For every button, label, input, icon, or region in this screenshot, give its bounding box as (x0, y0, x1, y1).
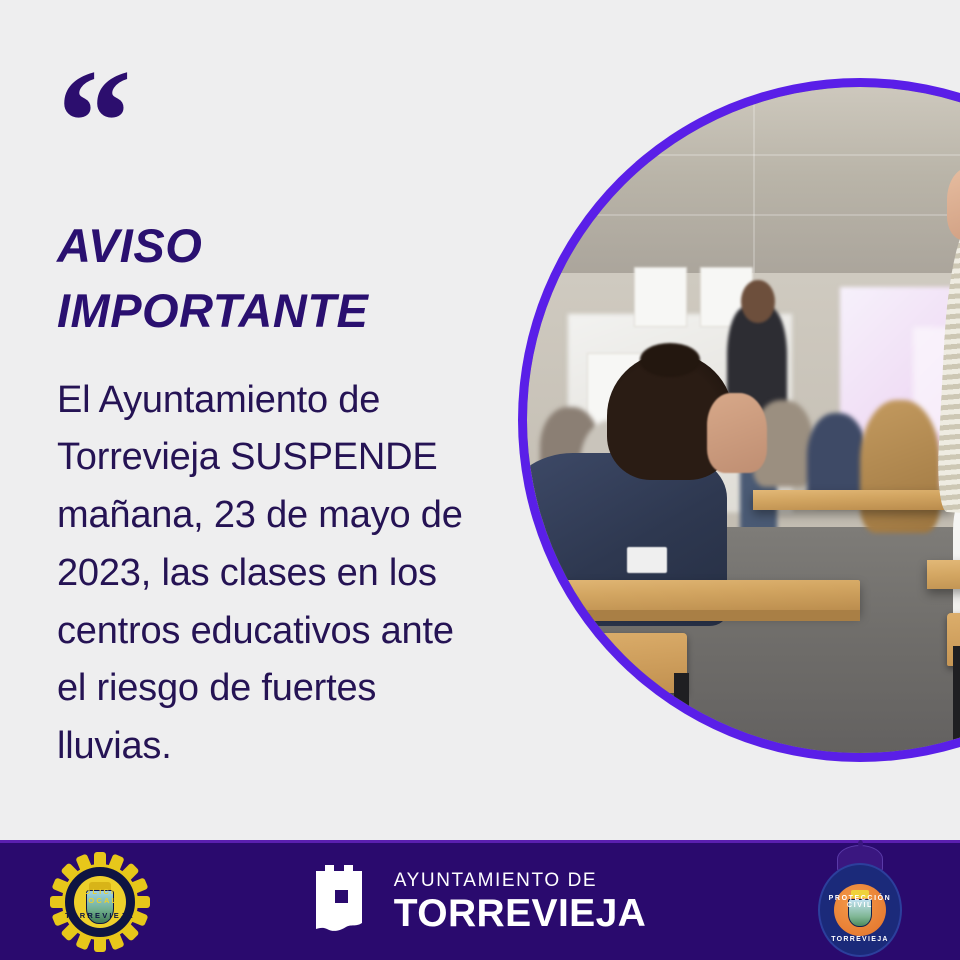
classroom-photo (527, 87, 960, 753)
desk-front (527, 580, 860, 613)
desk-right (927, 560, 960, 589)
ceiling-line (527, 214, 960, 216)
badge-disc: POLICÍA LOCAL TORREVIEJA (62, 864, 138, 940)
footer-slot-police: POLICÍA LOCAL TORREVIEJA (0, 850, 200, 954)
footer-slot-proteccion-civil: PROTECCIÓN CIVIL TORREVIEJA (760, 845, 960, 959)
student-boy-hands (707, 393, 767, 473)
proteccion-civil-torrevieja-badge: PROTECCIÓN CIVIL TORREVIEJA (808, 845, 912, 959)
footer-bar: POLICÍA LOCAL TORREVIEJA AYUNTAMIENTO DE… (0, 840, 960, 960)
text-column: “ AVISO IMPORTANTE El Ayuntamiento de To… (57, 64, 487, 776)
footer-slot-ayuntamiento: AYUNTAMIENTO DE TORREVIEJA (200, 863, 760, 941)
ceiling-line (527, 154, 960, 156)
torrevieja-label: TORREVIEJA (394, 894, 647, 933)
quote-mark-icon: “ (57, 64, 487, 168)
badge-oval: PROTECCIÓN CIVIL TORREVIEJA (818, 863, 902, 957)
ceiling-line (753, 87, 755, 273)
poster-canvas: “ AVISO IMPORTANTE El Ayuntamiento de To… (0, 0, 960, 960)
teacher-head (741, 280, 774, 323)
ceiling (527, 87, 960, 287)
chair-leg (953, 646, 960, 739)
ayuntamiento-torrevieja-logo: AYUNTAMIENTO DE TORREVIEJA (314, 863, 647, 941)
background-pupil (860, 400, 940, 533)
ayuntamiento-text-lockup: AYUNTAMIENTO DE TORREVIEJA (394, 871, 647, 933)
badge-bottom-text: TORREVIEJA (65, 911, 135, 920)
student-boy-wristband (627, 547, 667, 574)
chair-leg (674, 673, 690, 740)
photo-ring (518, 78, 960, 762)
badge-bottom-text: TORREVIEJA (820, 936, 900, 943)
student-boy-hair-tuft (640, 343, 700, 376)
wall-note (634, 267, 687, 327)
announcement-body: El Ayuntamiento de Torrevieja SUSPENDE m… (57, 372, 482, 776)
desk-edge (527, 610, 860, 621)
badge-top-text: POLICÍA LOCAL (65, 887, 135, 905)
castle-tower-icon (314, 863, 370, 941)
badge-top-text: PROTECCIÓN CIVIL (820, 895, 900, 909)
desk (753, 490, 953, 510)
chair-leg (554, 673, 567, 753)
ayuntamiento-label: AYUNTAMIENTO DE (394, 871, 647, 890)
page-title: AVISO IMPORTANTE (57, 214, 487, 344)
policia-local-torrevieja-badge: POLICÍA LOCAL TORREVIEJA (48, 850, 152, 954)
